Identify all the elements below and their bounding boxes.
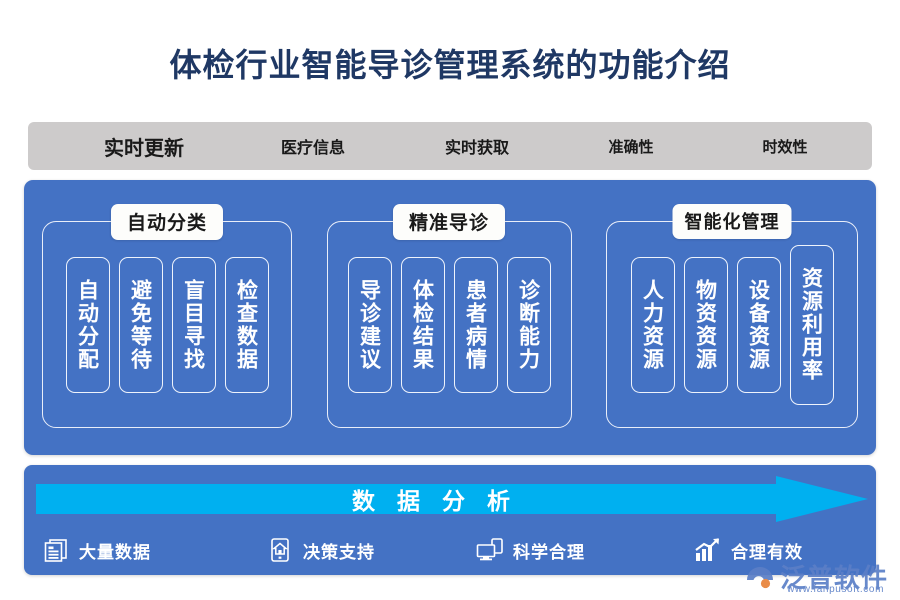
data-analysis-arrow: 数 据 分 析 bbox=[36, 476, 868, 522]
data-analysis-label: 数 据 分 析 bbox=[36, 476, 826, 522]
feature-card-label: 设备资源 bbox=[747, 279, 769, 371]
feature-card[interactable]: 盲目寻找 bbox=[172, 257, 216, 393]
footer-item-label: 决策支持 bbox=[303, 538, 375, 563]
documents-icon bbox=[42, 536, 70, 564]
feature-card-label: 导诊建议 bbox=[358, 279, 380, 371]
data-analysis-panel: 数 据 分 析 大量数据 bbox=[24, 465, 876, 575]
brand-logo: 泛普软件 www.fanpusoft.com bbox=[745, 564, 888, 594]
brand-logo-icon bbox=[745, 564, 775, 594]
footer-item-label: 科学合理 bbox=[513, 538, 585, 563]
feature-card-label: 体检结果 bbox=[411, 279, 433, 371]
tags-bar: 实时更新 医疗信息 实时获取 准确性 时效性 bbox=[28, 122, 872, 170]
tag-item-1: 医疗信息 bbox=[238, 134, 388, 158]
feature-card-label: 资源利用率 bbox=[800, 267, 822, 382]
slide-canvas: 体检行业智能导诊管理系统的功能介绍 实时更新 医疗信息 实时获取 准确性 时效性… bbox=[0, 0, 900, 600]
feature-group-auto-classification: 自动分类 自动分配 避免等待 盲目寻找 检查数据 bbox=[42, 221, 292, 428]
feature-card-label: 物资资源 bbox=[694, 279, 716, 371]
brand-logo-url: www.fanpusoft.com bbox=[787, 584, 884, 595]
group-badge-2: 精准导诊 bbox=[393, 204, 505, 240]
footer-item-effective[interactable]: 合理有效 bbox=[694, 536, 874, 564]
feature-card-label: 诊断能力 bbox=[517, 279, 539, 371]
devices-icon bbox=[476, 536, 504, 564]
feature-card[interactable]: 患者病情 bbox=[454, 257, 498, 393]
growth-chart-icon bbox=[694, 536, 722, 564]
feature-groups: 自动分类 自动分配 避免等待 盲目寻找 检查数据 精准导诊 导诊建议 bbox=[24, 180, 876, 455]
feature-card-label: 自动分配 bbox=[76, 279, 98, 371]
feature-card[interactable]: 资源利用率 bbox=[790, 245, 834, 405]
feature-card[interactable]: 诊断能力 bbox=[507, 257, 551, 393]
footer-item-label: 合理有效 bbox=[731, 538, 803, 563]
footer-item-big-data[interactable]: 大量数据 bbox=[42, 536, 266, 564]
tag-item-0: 实时更新 bbox=[54, 132, 234, 161]
group-badge-1: 自动分类 bbox=[111, 204, 223, 240]
tag-item-4: 时效性 bbox=[720, 136, 850, 157]
feature-card[interactable]: 检查数据 bbox=[225, 257, 269, 393]
feature-card[interactable]: 设备资源 bbox=[737, 257, 781, 393]
footer-item-scientific[interactable]: 科学合理 bbox=[476, 536, 694, 564]
tablet-home-icon bbox=[266, 536, 294, 564]
feature-card[interactable]: 人力资源 bbox=[631, 257, 675, 393]
feature-group-intelligent-management: 智能化管理 人力资源 物资资源 设备资源 资源利用率 bbox=[606, 221, 858, 428]
tag-item-3: 准确性 bbox=[566, 136, 696, 157]
group-badge-3: 智能化管理 bbox=[673, 204, 792, 239]
feature-card[interactable]: 自动分配 bbox=[66, 257, 110, 393]
feature-card-label: 患者病情 bbox=[464, 279, 486, 371]
tag-item-2: 实时获取 bbox=[402, 134, 552, 158]
feature-card-label: 人力资源 bbox=[641, 279, 663, 371]
feature-card[interactable]: 避免等待 bbox=[119, 257, 163, 393]
feature-card-label: 避免等待 bbox=[129, 279, 151, 371]
footer-item-label: 大量数据 bbox=[79, 538, 151, 563]
feature-card[interactable]: 物资资源 bbox=[684, 257, 728, 393]
page-title: 体检行业智能导诊管理系统的功能介绍 bbox=[0, 40, 900, 86]
feature-card-label: 检查数据 bbox=[235, 279, 257, 371]
feature-card-label: 盲目寻找 bbox=[182, 279, 204, 371]
feature-group-precise-triage: 精准导诊 导诊建议 体检结果 患者病情 诊断能力 bbox=[327, 221, 572, 428]
footer-item-decision-support[interactable]: 决策支持 bbox=[266, 536, 476, 564]
feature-card[interactable]: 体检结果 bbox=[401, 257, 445, 393]
feature-card[interactable]: 导诊建议 bbox=[348, 257, 392, 393]
features-panel: 自动分类 自动分配 避免等待 盲目寻找 检查数据 精准导诊 导诊建议 bbox=[24, 180, 876, 455]
